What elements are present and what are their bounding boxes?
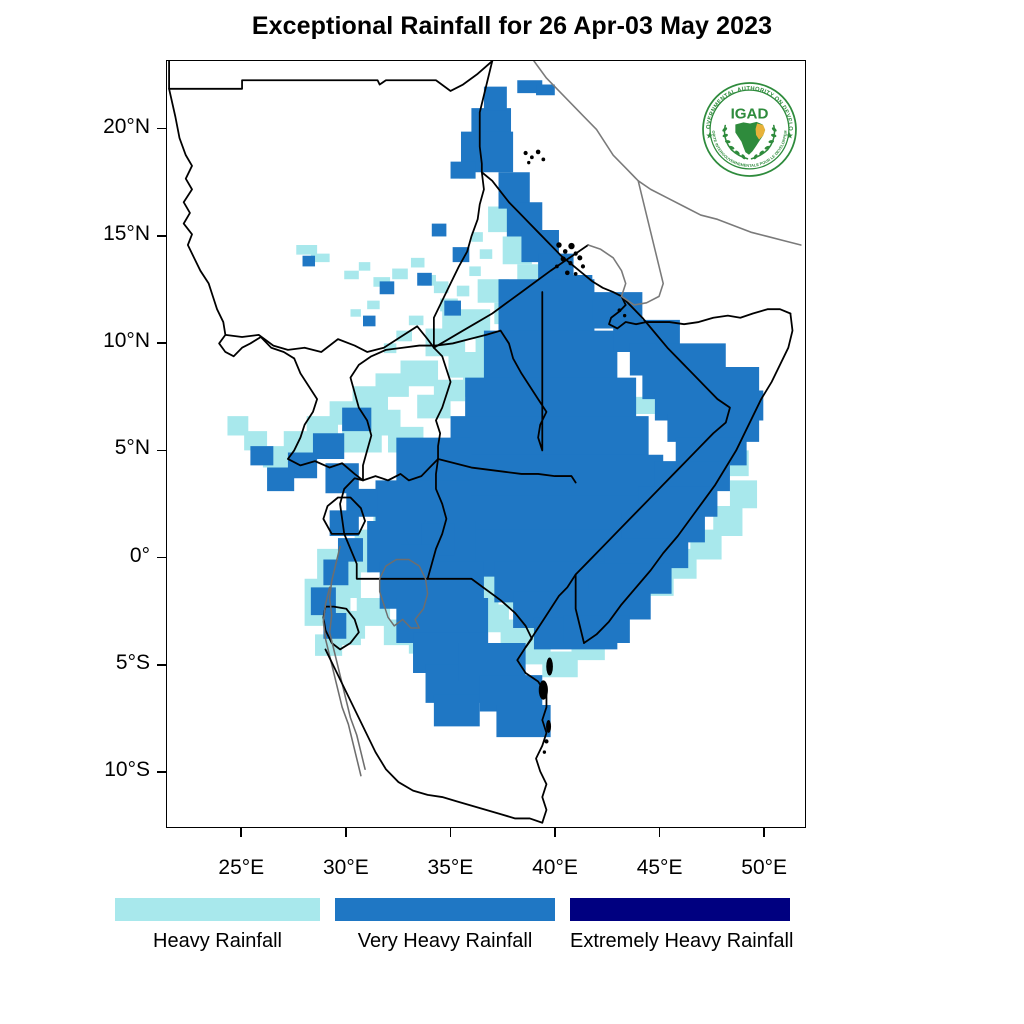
y-tick-label: 5°N (0, 436, 150, 460)
y-tick-label: 10°S (0, 758, 150, 782)
legend-entry: Extremely Heavy Rainfall (570, 898, 790, 953)
y-tick-label: 5°S (0, 651, 150, 675)
igad-logo: INTERGOVERNMENTAL AUTHORITY ON DEVELOPME… (699, 79, 800, 180)
x-tick-label: 25°E (181, 856, 301, 880)
x-tick-mark (659, 828, 661, 837)
y-tick-label: 20°N (0, 115, 150, 139)
x-tick-mark (554, 828, 556, 837)
legend-entry: Very Heavy Rainfall (335, 898, 555, 953)
legend-label: Very Heavy Rainfall (335, 930, 555, 953)
x-tick-label: 40°E (495, 856, 615, 880)
svg-text:★: ★ (706, 132, 714, 142)
y-tick-mark (157, 342, 166, 344)
x-tick-label: 35°E (390, 856, 510, 880)
y-tick-mark (157, 235, 166, 237)
map-legend: Heavy RainfallVery Heavy RainfallExtreme… (0, 898, 1024, 968)
page-title: Exceptional Rainfall for 26 Apr-03 May 2… (0, 12, 1024, 41)
svg-text:★: ★ (786, 132, 794, 142)
legend-entry: Heavy Rainfall (115, 898, 320, 953)
y-tick-label: 0° (0, 544, 150, 568)
y-tick-mark (157, 128, 166, 130)
x-tick-mark (240, 828, 242, 837)
y-tick-mark (157, 557, 166, 559)
y-tick-label: 15°N (0, 222, 150, 246)
igad-logo-graphic: INTERGOVERNMENTAL AUTHORITY ON DEVELOPME… (699, 79, 800, 180)
x-tick-mark (345, 828, 347, 837)
x-tick-label: 30°E (286, 856, 406, 880)
logo-wordmark: IGAD (731, 105, 769, 122)
legend-swatch (115, 898, 320, 921)
legend-swatch (335, 898, 555, 921)
x-tick-label: 45°E (600, 856, 720, 880)
legend-label: Extremely Heavy Rainfall (570, 930, 790, 953)
y-tick-mark (157, 450, 166, 452)
x-tick-mark (763, 828, 765, 837)
legend-swatch (570, 898, 790, 921)
x-tick-mark (450, 828, 452, 837)
y-tick-mark (157, 664, 166, 666)
y-tick-mark (157, 771, 166, 773)
legend-label: Heavy Rainfall (115, 930, 320, 953)
x-tick-label: 50°E (704, 856, 824, 880)
y-tick-label: 10°N (0, 329, 150, 353)
